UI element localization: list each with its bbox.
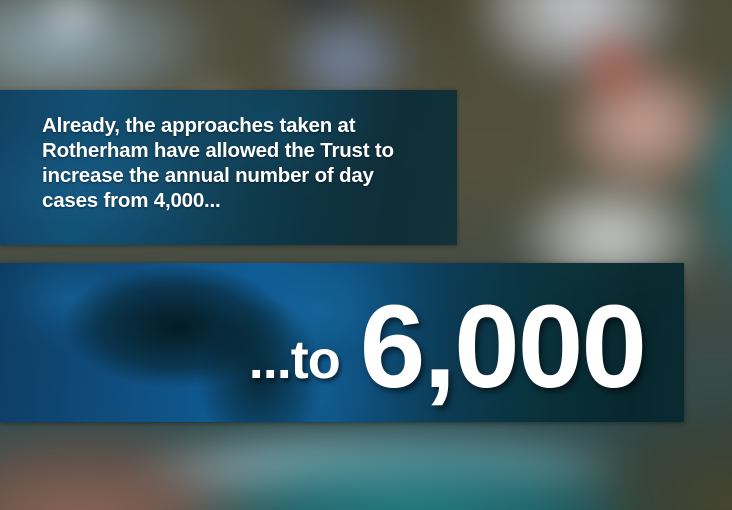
statement-text: Already, the approaches taken at Rotherh… (42, 113, 422, 213)
number-panel (0, 263, 684, 422)
background-photo (0, 0, 732, 510)
number-panel-tint (0, 263, 684, 422)
background-photo-details (0, 0, 732, 510)
slide-canvas: Already, the approaches taken at Rotherh… (0, 0, 732, 510)
